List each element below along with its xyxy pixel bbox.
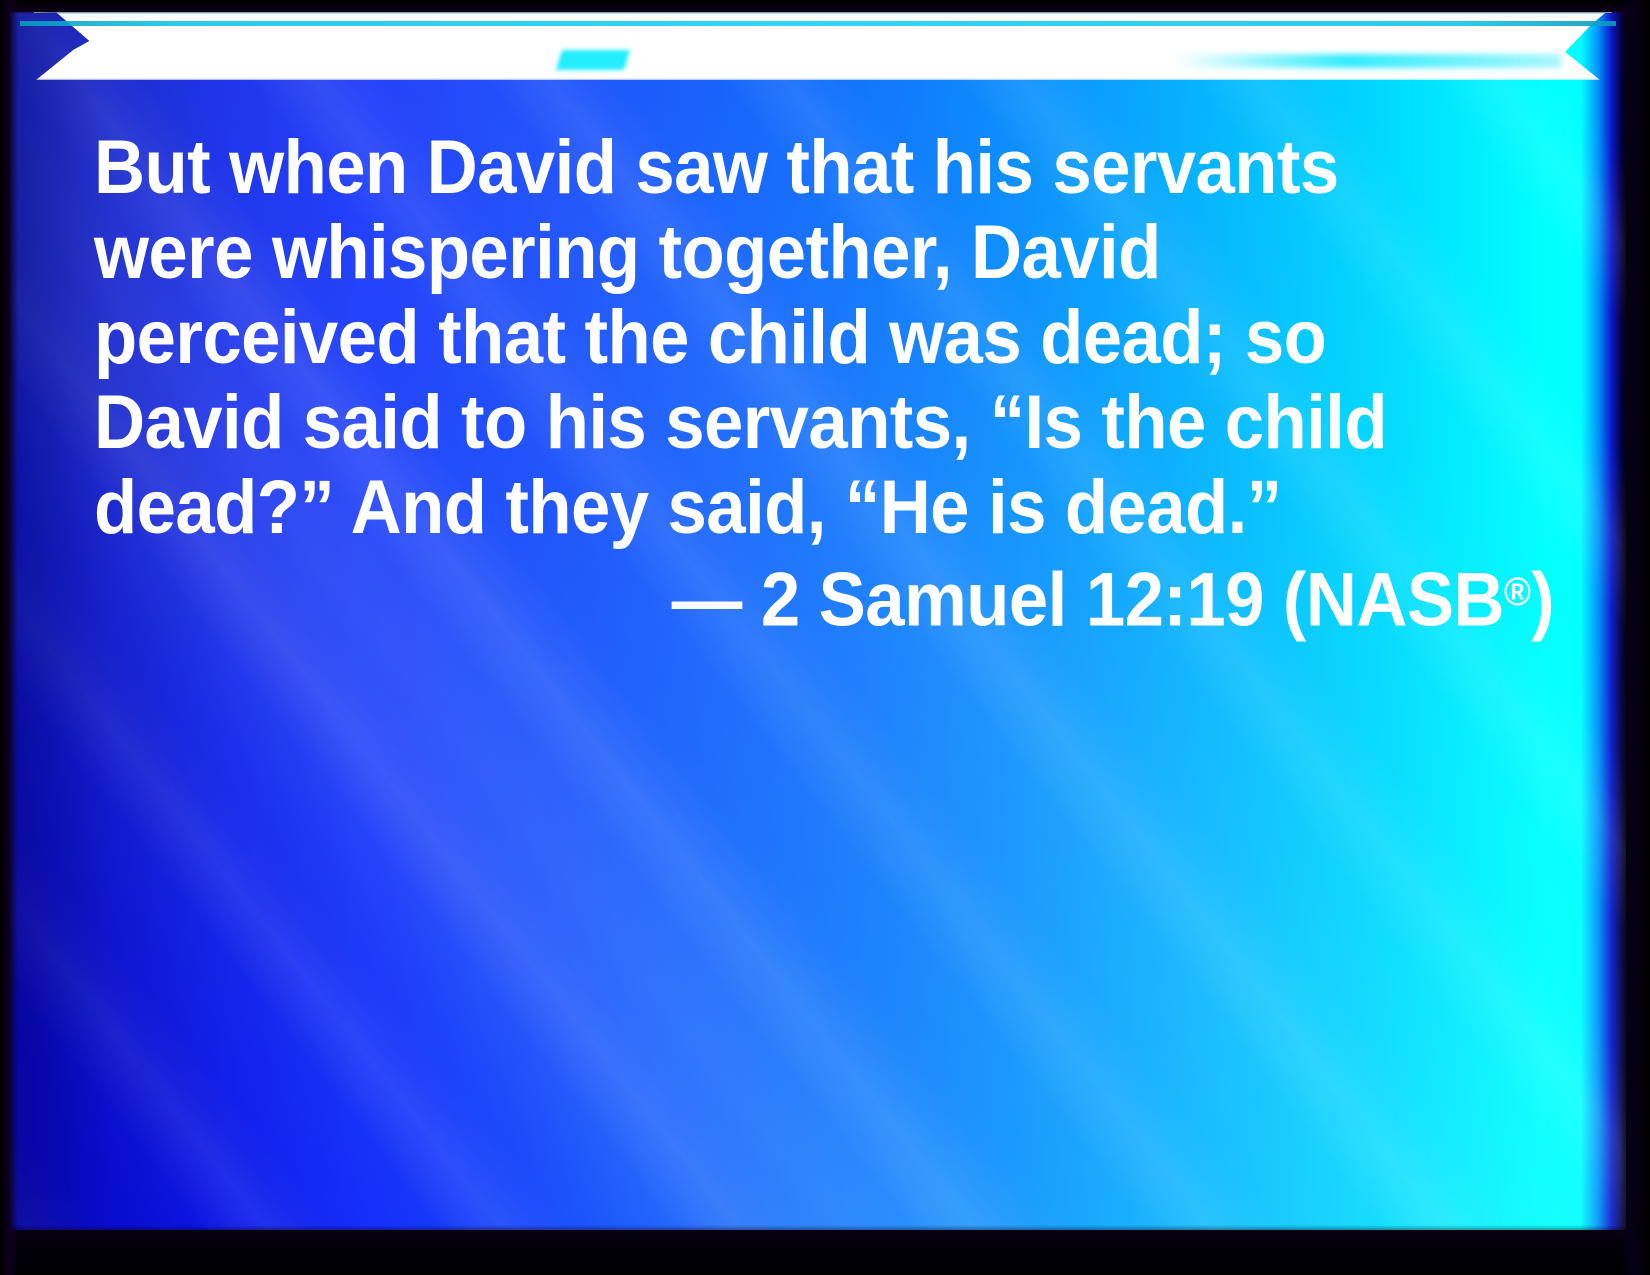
verse-slide: But when David saw that his servants wer…: [0, 0, 1650, 1275]
attribution-reference: 2 Samuel 12:19: [761, 558, 1264, 643]
registered-trademark-icon: ®: [1504, 570, 1531, 614]
attribution-dash: —: [672, 558, 742, 643]
verse-attribution: — 2 Samuel 12:19 (NASB®): [196, 550, 1554, 643]
attribution-version-open: (NASB: [1283, 558, 1504, 643]
verse-body-text: But when David saw that his servants wer…: [94, 125, 1452, 550]
slide-canvas: But when David saw that his servants wer…: [10, 12, 1626, 1230]
attribution-version-close: ): [1531, 558, 1554, 643]
verse-block: But when David saw that his servants wer…: [94, 125, 1554, 643]
